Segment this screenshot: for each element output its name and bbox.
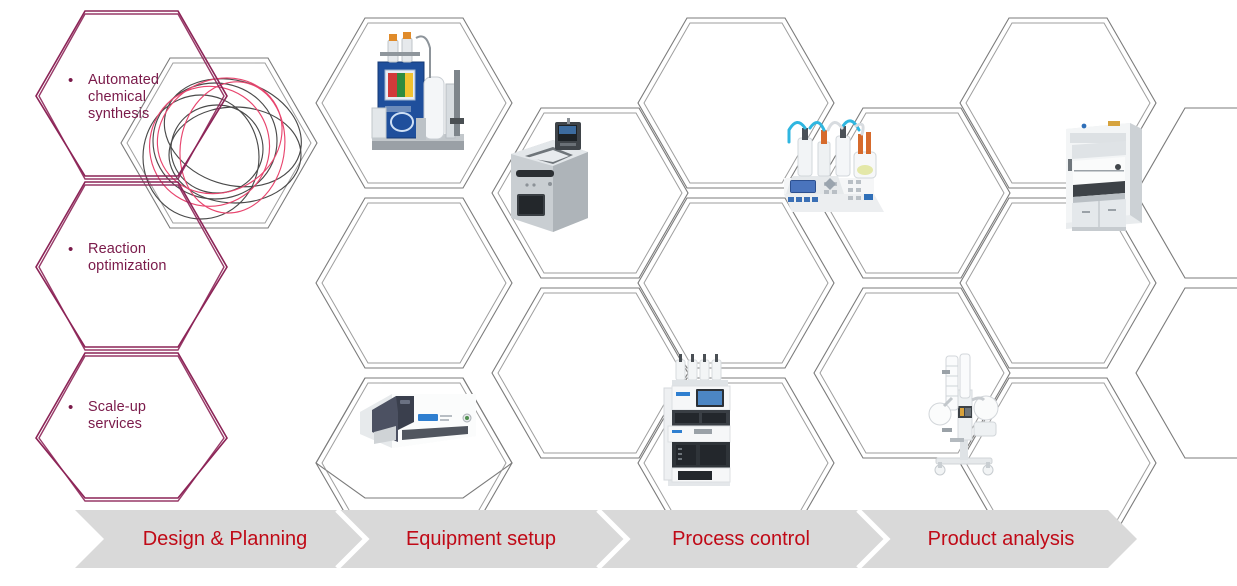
- step-process-control[interactable]: Process control: [625, 526, 857, 552]
- hex-outline: [1136, 288, 1237, 458]
- capability-bullet-2: •: [68, 241, 73, 258]
- capability-bullet-1: •: [68, 72, 73, 89]
- rotary-evaporator: [922, 350, 1006, 480]
- capability-bullet-3: •: [68, 399, 73, 416]
- capability-label-scale-up-services: Scale-up services: [88, 399, 208, 433]
- fume-hood: [1060, 115, 1148, 235]
- hex-outline: [316, 198, 512, 368]
- step-design-planning[interactable]: Design & Planning: [110, 526, 340, 552]
- karl-fischer-titrator: [778, 112, 890, 222]
- capability-label-reaction-optimization: Reaction optimization: [88, 241, 213, 275]
- automated-synthesis-reactor: [358, 22, 478, 162]
- diagram-canvas: • Automated chemical synthesis • Reactio…: [0, 0, 1237, 586]
- spectrophotometer: [352, 382, 482, 458]
- step-product-analysis[interactable]: Product analysis: [885, 526, 1117, 552]
- circulating-water-bath: [507, 112, 592, 237]
- process-step-band: Design & Planning Equipment setup Proces…: [0, 508, 1237, 570]
- step-equipment-setup[interactable]: Equipment setup: [365, 526, 597, 552]
- hex-outline-inner: [644, 203, 828, 363]
- capability-label-automated-chemical-synthesis: Automated chemical synthesis: [88, 72, 208, 123]
- hex-outline: [1136, 108, 1237, 278]
- hex-outline: [638, 198, 834, 368]
- hex-outline-inner: [322, 203, 506, 363]
- hplc-system: [650, 352, 742, 492]
